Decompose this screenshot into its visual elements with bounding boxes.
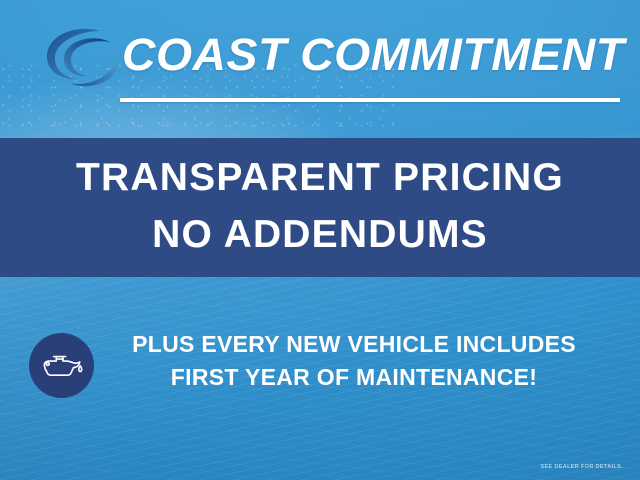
promo-text-block: PLUS EVERY NEW VEHICLE INCLUDES FIRST YE… [104,328,604,394]
promo-line-2: FIRST YEAR OF MAINTENANCE! [104,361,604,394]
disclaimer-text: SEE DEALER FOR DETAILS. [540,463,623,471]
header-divider [120,98,620,102]
oil-can-icon [29,333,94,398]
promo-line-1: PLUS EVERY NEW VEHICLE INCLUDES [104,328,604,361]
coast-wave-logo-icon [36,22,122,94]
banner-headline-line-1: TRANSPARENT PRICING [0,156,640,200]
coast-commitment-banner: COAST COMMITMENT TRANSPARENT PRICING NO … [0,0,640,480]
banner-header: COAST COMMITMENT [0,0,640,118]
banner-headline-line-2: NO ADDENDUMS [0,213,640,257]
page-title: COAST COMMITMENT [122,27,635,83]
maintenance-promo: PLUS EVERY NEW VEHICLE INCLUDES FIRST YE… [0,328,640,402]
